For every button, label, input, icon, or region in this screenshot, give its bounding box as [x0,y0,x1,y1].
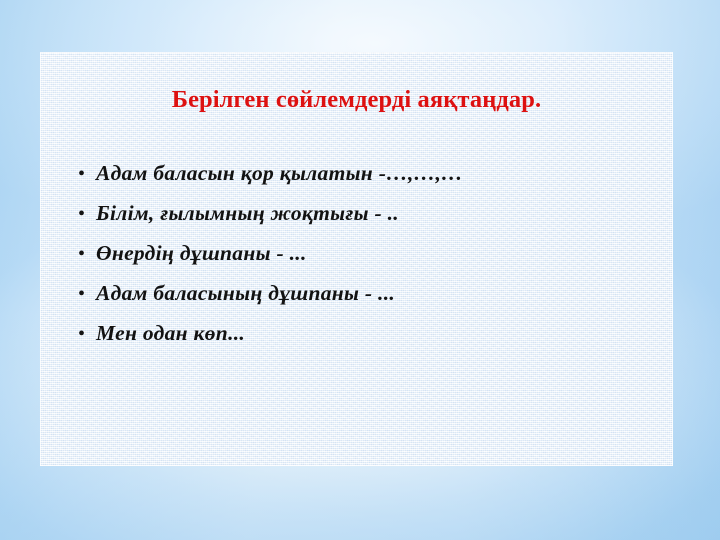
list-item-label: Білім, ғылымның жоқтығы - .. [96,193,655,233]
bullet-icon: • [78,154,96,194]
list-item: • Білім, ғылымның жоқтығы - .. [78,193,655,233]
content-panel: Берілген сөйлемдерді аяқтаңдар. • Адам б… [40,52,673,466]
sentence-completion-list: • Адам баласын қор қылатын -…,…,… • Білі… [78,153,655,353]
list-item: • Өнердің дұшпаны - ... [78,233,655,273]
bullet-icon: • [78,314,96,354]
page-title: Берілген сөйлемдерді аяқтаңдар. [40,86,673,114]
bullet-icon: • [78,234,96,274]
bullet-icon: • [78,274,96,314]
list-item: • Адам баласын қор қылатын -…,…,… [78,153,655,193]
list-item: • Адам баласының дұшпаны - ... [78,273,655,313]
list-item: • Мен одан көп... [78,313,655,353]
list-item-label: Адам баласының дұшпаны - ... [96,273,655,313]
list-item-label: Мен одан көп... [96,313,655,353]
list-item-label: Адам баласын қор қылатын -…,…,… [96,153,655,193]
presentation-slide: Берілген сөйлемдерді аяқтаңдар. • Адам б… [0,0,720,540]
list-item-label: Өнердің дұшпаны - ... [96,233,655,273]
bullet-icon: • [78,194,96,234]
